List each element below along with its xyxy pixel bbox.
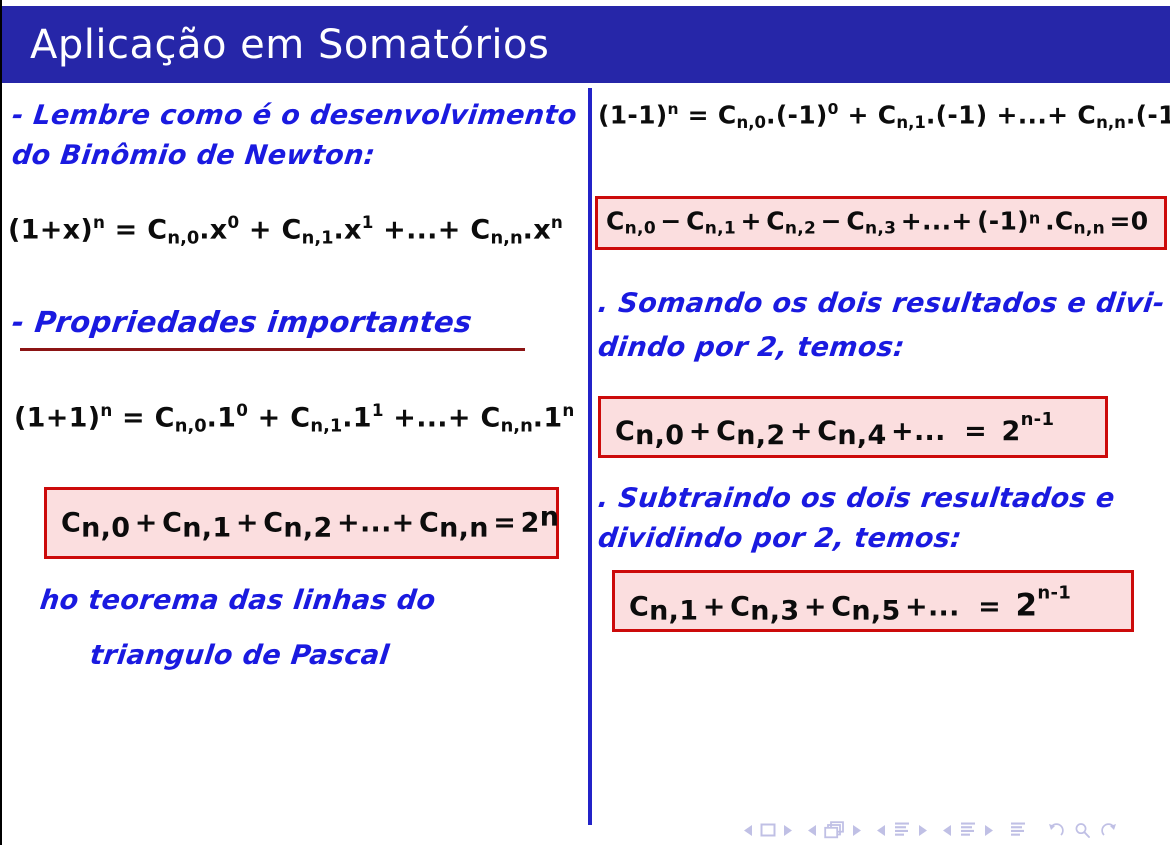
page-title: Aplicação em Somatórios bbox=[30, 22, 549, 68]
nav-group-slide[interactable] bbox=[744, 823, 792, 837]
odd-term2: C bbox=[730, 591, 750, 624]
omo-term1-var: .(-1) bbox=[766, 101, 828, 130]
odd-equals: = bbox=[978, 591, 1001, 624]
boxed-formula-odd-sum: Cn,1 + Cn,3 + Cn,5 +... = 2n-1 bbox=[612, 570, 1134, 632]
alt-term5-sub: n,n bbox=[1074, 219, 1106, 240]
alt-minus2: − bbox=[821, 207, 842, 238]
presentation-lines-icon[interactable] bbox=[1009, 821, 1027, 839]
current-frame-stack-icon[interactable] bbox=[824, 821, 845, 839]
opo-term2: C bbox=[290, 402, 310, 433]
opo-equals: = bbox=[122, 402, 145, 433]
note-lembre-line1: - Lembre como é o desenvolvimento bbox=[10, 100, 579, 133]
binomial-equals: = bbox=[115, 214, 138, 245]
binomial-term3-sub: n,n bbox=[491, 227, 523, 248]
sum-all-term4: C bbox=[419, 508, 439, 541]
binomial-plus1: + bbox=[249, 214, 272, 245]
sum-all-term2-sub: n,1 bbox=[182, 512, 231, 545]
alt-term4-sub: n,3 bbox=[865, 219, 896, 240]
heading-propriedades: - Propriedades importantes bbox=[10, 305, 474, 340]
note-lembre-line2: do Binômio de Newton: bbox=[10, 140, 377, 173]
odd-rhs-exp: n-1 bbox=[1037, 583, 1071, 605]
note-subtraindo-line2: dividindo por 2, temos: bbox=[596, 523, 964, 556]
alt-equals-zero: =0 bbox=[1110, 207, 1149, 238]
opo-term3-sub: n,n bbox=[501, 415, 533, 436]
alt-term1-sub: n,0 bbox=[625, 219, 656, 240]
prev-slide-arrow-icon[interactable] bbox=[744, 825, 753, 836]
sum-all-plus2: + bbox=[236, 508, 259, 541]
odd-plus2: + bbox=[804, 591, 827, 624]
binomial-dots: +...+ bbox=[383, 214, 461, 245]
sum-all-term1-sub: n,0 bbox=[81, 512, 130, 545]
binomial-term1-var: .x bbox=[199, 214, 227, 245]
boxed-formula-even-sum: Cn,0 + Cn,2 + Cn,4 +... = 2n-1 bbox=[598, 396, 1108, 458]
alt-term2: C bbox=[686, 207, 705, 238]
alt-sign: (-1) bbox=[977, 207, 1029, 238]
opo-term1-var: .1 bbox=[207, 402, 237, 433]
opo-term3-exp: n bbox=[562, 400, 574, 420]
even-dots: +... bbox=[891, 416, 946, 449]
alt-plus1: + bbox=[741, 207, 762, 238]
prev-subsection-arrow-icon[interactable] bbox=[877, 825, 886, 836]
even-rhs: 2 bbox=[1001, 416, 1020, 449]
odd-term3: C bbox=[831, 591, 851, 624]
odd-dots: +... bbox=[905, 591, 960, 624]
heading-propriedades-underline bbox=[20, 348, 525, 351]
opo-plus1: + bbox=[258, 402, 281, 433]
opo-term2-sub: n,1 bbox=[310, 415, 342, 436]
even-rhs-exp: n-1 bbox=[1021, 410, 1055, 432]
current-subsection-lines-icon[interactable] bbox=[893, 821, 911, 839]
opo-term3-var: .1 bbox=[533, 402, 563, 433]
column-divider bbox=[588, 88, 592, 825]
beamer-navigation-bar[interactable] bbox=[744, 818, 1164, 842]
opo-dots: +...+ bbox=[393, 402, 471, 433]
alt-minus1: − bbox=[660, 207, 681, 238]
omo-term3-var: .(-1) bbox=[1126, 101, 1170, 130]
formula-one-minus-one: (1-1)n = Cn,0.(-1)0 + Cn,1.(-1) +...+ Cn… bbox=[598, 100, 1170, 133]
even-term1: C bbox=[615, 416, 635, 449]
binomial-term3-var: .x bbox=[523, 214, 551, 245]
formula-binomial-newton: (1+x)n = Cn,0.x0 + Cn,1.x1 +...+ Cn,n.xn bbox=[8, 212, 563, 249]
omo-equals: = bbox=[688, 101, 709, 130]
prev-frame-arrow-icon[interactable] bbox=[808, 825, 817, 836]
sum-all-equals: = bbox=[493, 508, 516, 541]
binomial-term3-exp: n bbox=[551, 212, 563, 232]
slide-canvas: Aplicação em Somatórios - Lembre como é … bbox=[0, 0, 1170, 845]
omo-term2-sub: n,1 bbox=[896, 113, 926, 132]
binomial-term1-exp: 0 bbox=[228, 212, 240, 232]
alt-sign-exp: n bbox=[1029, 208, 1041, 228]
note-teorema-line2: triangulo de Pascal bbox=[88, 640, 391, 673]
formula-one-plus-one: (1+1)n = Cn,0.10 + Cn,1.11 +...+ Cn,n.1n bbox=[14, 400, 574, 437]
sum-all-dots: +...+ bbox=[337, 508, 415, 541]
nav-group-subsection[interactable] bbox=[877, 821, 927, 839]
current-section-lines-icon[interactable] bbox=[959, 821, 977, 839]
omo-lhs-exponent: n bbox=[668, 100, 679, 118]
nav-group-history[interactable] bbox=[1047, 822, 1118, 839]
alt-term5: .C bbox=[1045, 207, 1073, 238]
odd-term2-sub: n,3 bbox=[750, 595, 799, 628]
note-somando-line2: dindo por 2, temos: bbox=[596, 332, 907, 365]
opo-term3: C bbox=[481, 402, 501, 433]
even-term1-sub: n,0 bbox=[635, 420, 684, 453]
omo-term1: C bbox=[718, 101, 737, 130]
note-somando-line1: . Somando os dois resultados e divi- bbox=[596, 288, 1167, 321]
even-term3: C bbox=[817, 416, 837, 449]
opo-term2-var: .1 bbox=[342, 402, 372, 433]
sum-all-plus1: + bbox=[135, 508, 158, 541]
alt-term2-sub: n,1 bbox=[705, 219, 736, 240]
even-term2-sub: n,2 bbox=[736, 420, 785, 453]
binomial-term2-sub: n,1 bbox=[302, 227, 334, 248]
sum-all-term4-sub: n,n bbox=[439, 512, 489, 545]
prev-section-arrow-icon[interactable] bbox=[943, 825, 952, 836]
binomial-term3: C bbox=[470, 214, 490, 245]
boxed-formula-sum-all-row: Cn,0 + Cn,1 + Cn,2 +...+ Cn,n = 2n bbox=[44, 487, 559, 559]
odd-plus1: + bbox=[703, 591, 726, 624]
next-subsection-arrow-icon[interactable] bbox=[918, 825, 927, 836]
binomial-term2-var: .x bbox=[334, 214, 362, 245]
odd-term1: C bbox=[629, 591, 649, 624]
even-term3-sub: n,4 bbox=[837, 420, 886, 453]
nav-group-frame[interactable] bbox=[808, 821, 861, 839]
omo-term3: C bbox=[1077, 101, 1096, 130]
alt-term4: C bbox=[846, 207, 865, 238]
sum-all-term1: C bbox=[61, 508, 81, 541]
omo-plus1: + bbox=[847, 101, 868, 130]
next-section-arrow-icon[interactable] bbox=[984, 825, 993, 836]
omo-term2-var: .(-1) bbox=[926, 101, 988, 130]
alt-term1: C bbox=[606, 207, 625, 238]
odd-term3-sub: n,5 bbox=[851, 595, 900, 628]
sum-all-rhs: 2 bbox=[521, 508, 540, 541]
even-term2: C bbox=[716, 416, 736, 449]
alt-term3-sub: n,2 bbox=[785, 219, 816, 240]
nav-group-section[interactable] bbox=[943, 821, 993, 839]
alt-dots: +...+ bbox=[901, 207, 973, 238]
title-banner: Aplicação em Somatórios bbox=[2, 6, 1170, 83]
opo-lhs-exponent: n bbox=[100, 400, 112, 420]
back-arrow-icon[interactable] bbox=[1047, 822, 1064, 838]
forward-arrow-icon[interactable] bbox=[1101, 822, 1118, 838]
sum-all-rhs-exp: n bbox=[540, 501, 560, 534]
omo-term1-sub: n,0 bbox=[737, 113, 767, 132]
opo-lhs: (1+1) bbox=[14, 402, 100, 433]
alt-term3: C bbox=[766, 207, 785, 238]
omo-term1-exp: 0 bbox=[828, 100, 839, 118]
search-magnifier-icon[interactable] bbox=[1074, 822, 1091, 839]
binomial-term2-exp: 1 bbox=[362, 212, 374, 232]
note-subtraindo-line1: . Subtraindo os dois resultados e bbox=[596, 483, 1117, 516]
next-slide-arrow-icon[interactable] bbox=[783, 825, 792, 836]
omo-dots: +...+ bbox=[997, 101, 1069, 130]
next-frame-arrow-icon[interactable] bbox=[852, 825, 861, 836]
current-slide-square-icon[interactable] bbox=[760, 823, 776, 837]
omo-term3-sub: n,n bbox=[1096, 113, 1126, 132]
odd-term1-sub: n,1 bbox=[649, 595, 698, 628]
binomial-lhs-exponent: n bbox=[93, 212, 105, 232]
opo-term1: C bbox=[155, 402, 175, 433]
omo-term2: C bbox=[878, 101, 897, 130]
binomial-term1-sub: n,0 bbox=[167, 227, 199, 248]
opo-term1-exp: 0 bbox=[236, 400, 248, 420]
even-plus1: + bbox=[689, 416, 712, 449]
even-equals: = bbox=[964, 416, 987, 449]
binomial-lhs: (1+x) bbox=[8, 214, 93, 245]
note-teorema-line1: ho teorema das linhas do bbox=[38, 585, 438, 618]
opo-term2-exp: 1 bbox=[372, 400, 384, 420]
odd-rhs: 2 bbox=[1015, 587, 1037, 625]
boxed-formula-alternating-sum: Cn,0 − Cn,1 + Cn,2 − Cn,3 +...+ (-1)n .C… bbox=[595, 196, 1167, 250]
binomial-term2: C bbox=[282, 214, 302, 245]
omo-lhs: (1-1) bbox=[598, 101, 668, 130]
sum-all-term3: C bbox=[263, 508, 283, 541]
opo-term1-sub: n,0 bbox=[175, 415, 207, 436]
even-plus2: + bbox=[790, 416, 813, 449]
binomial-term1: C bbox=[147, 214, 167, 245]
sum-all-term3-sub: n,2 bbox=[283, 512, 332, 545]
sum-all-term2: C bbox=[162, 508, 182, 541]
